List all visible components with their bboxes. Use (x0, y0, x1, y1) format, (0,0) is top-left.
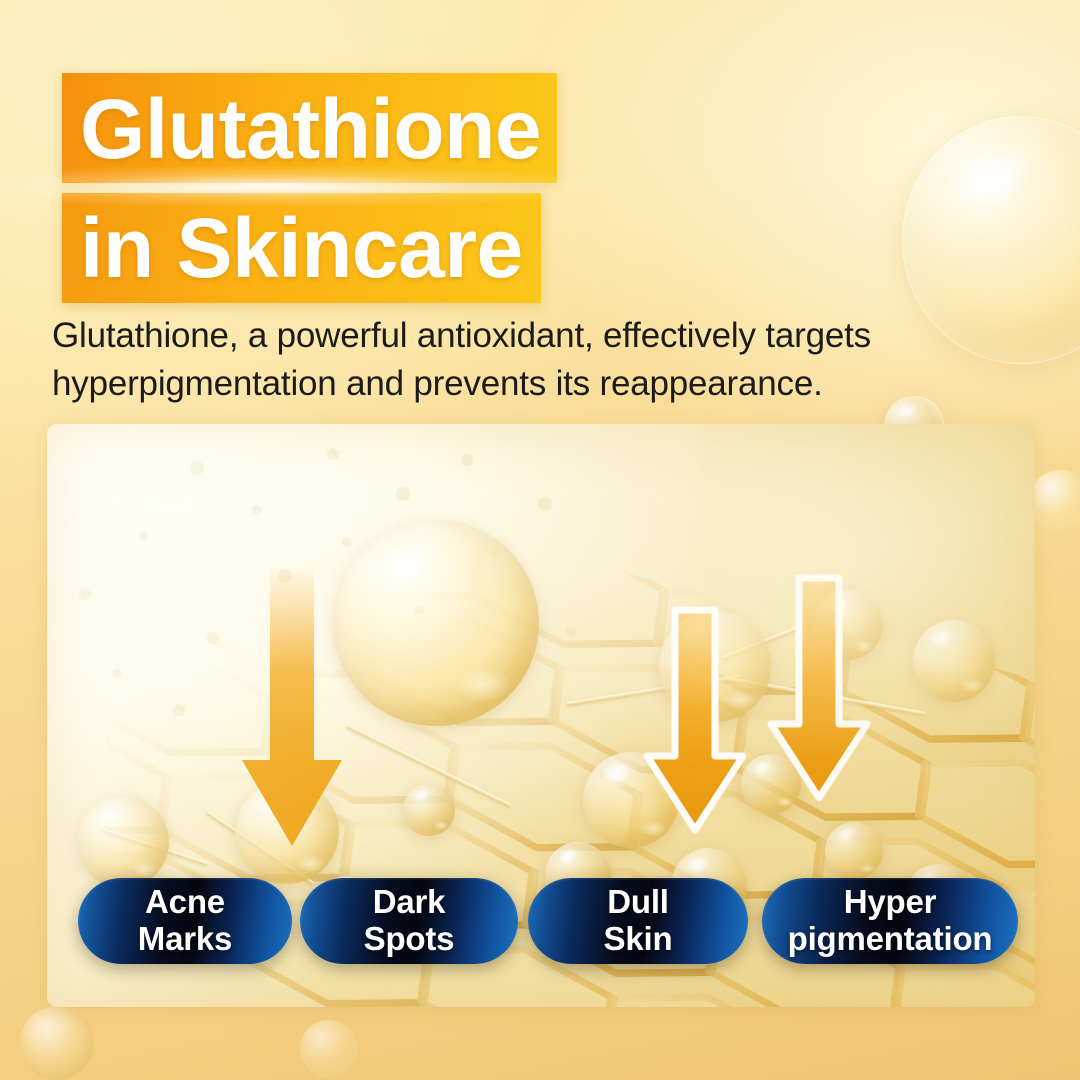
arrow-hyperpigmentation (763, 574, 875, 806)
background-bubble-bottom-left (20, 1006, 94, 1080)
badge-hyperpigmentation[interactable]: Hyper pigmentation (762, 878, 1018, 964)
arrow-acne-marks (237, 564, 347, 864)
background-bubble-bottom-center (300, 1020, 358, 1078)
molecule-sphere-hero (333, 520, 539, 726)
molecule-sphere-7 (403, 784, 455, 836)
molecule-sphere-4 (913, 620, 995, 702)
subtitle-line-2: hyperpigmentation and prevents its reapp… (52, 360, 932, 408)
badge-dull-skin[interactable]: Dull Skin (528, 878, 748, 964)
badge-hyperpigmentation-line-2: pigmentation (788, 921, 993, 958)
badge-dark-spots-line-2: Spots (364, 921, 455, 958)
molecule-sphere-9 (77, 796, 169, 888)
title-line-2: in Skincare (62, 193, 541, 303)
background-bubble-right-edge (1028, 470, 1080, 534)
arrow-dull-skin (639, 606, 751, 838)
page-title: Glutathione in Skincare (62, 73, 557, 303)
badge-dark-spots[interactable]: Dark Spots (300, 878, 518, 964)
subtitle-line-1: Glutathione, a powerful antioxidant, eff… (52, 312, 932, 360)
badge-acne-marks-line-1: Acne (145, 884, 225, 921)
poster-root: Glutathione in Skincare Glutathione, a p… (0, 0, 1080, 1080)
badge-acne-marks[interactable]: Acne Marks (78, 878, 292, 964)
badge-acne-marks-line-2: Marks (138, 921, 232, 958)
molecule-sphere-12 (825, 822, 883, 880)
badge-dull-skin-line-1: Dull (607, 884, 669, 921)
badge-dark-spots-line-1: Dark (373, 884, 446, 921)
badge-hyperpigmentation-line-1: Hyper (844, 884, 937, 921)
title-line-1: Glutathione (62, 73, 557, 183)
subtitle: Glutathione, a powerful antioxidant, eff… (52, 312, 932, 407)
badge-dull-skin-line-2: Skin (604, 921, 673, 958)
